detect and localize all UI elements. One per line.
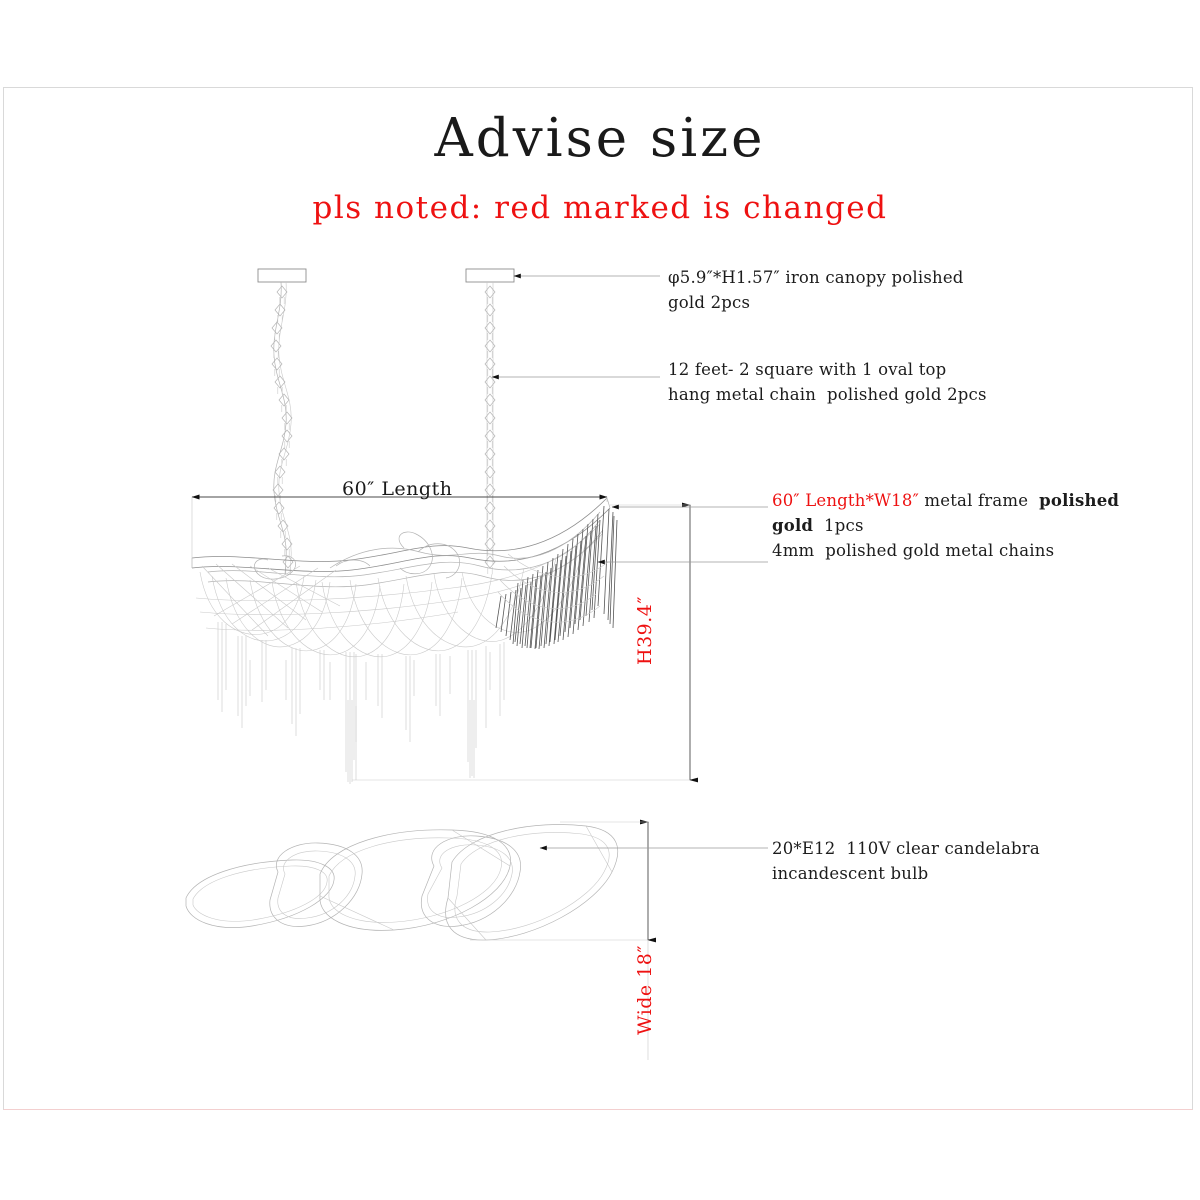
annotation-hang-chain-line1: 12 feet- 2 square with 1 oval top bbox=[668, 360, 946, 379]
annotation-hang-chain: 12 feet- 2 square with 1 oval top hang m… bbox=[668, 357, 987, 407]
annotation-bulb-line2: incandescent bulb bbox=[772, 864, 928, 883]
hang-chain-right bbox=[485, 282, 495, 574]
annotation-bulb: 20*E12 110V clear candelabra incandescen… bbox=[772, 836, 1040, 886]
annotation-metal-frame-bold2: gold bbox=[772, 516, 813, 535]
dimension-label-height: H39.4″ bbox=[634, 596, 656, 665]
plan-view-links bbox=[186, 825, 618, 941]
annotation-metal-chains-line1: 4mm polished gold metal chains bbox=[772, 541, 1054, 560]
dimension-length bbox=[192, 497, 607, 560]
annotation-metal-frame-tail: 1pcs bbox=[813, 516, 863, 535]
dimension-label-width: Wide 18″ bbox=[634, 945, 656, 1035]
annotation-metal-chains: 4mm polished gold metal chains bbox=[772, 538, 1054, 563]
technical-drawing-artwork bbox=[0, 0, 1200, 1200]
annotation-metal-frame-mid: metal frame bbox=[919, 491, 1039, 510]
dimension-label-length: 60″ Length bbox=[342, 478, 452, 500]
hang-chain-left bbox=[271, 282, 293, 575]
annotation-hang-chain-line2: hang metal chain polished gold 2pcs bbox=[668, 385, 987, 404]
hanging-chain-strands bbox=[218, 622, 504, 784]
canopy-left bbox=[258, 269, 306, 282]
annotation-metal-frame-red: 60″ Length*W18″ bbox=[772, 491, 919, 510]
metal-chain-fringe bbox=[496, 506, 617, 649]
drawing-sheet: Advise size pls noted: red marked is cha… bbox=[0, 0, 1200, 1200]
annotation-canopy: φ5.9″*H1.57″ iron canopy polished gold 2… bbox=[668, 265, 964, 315]
canopy-right bbox=[466, 269, 514, 282]
annotation-canopy-line2: gold 2pcs bbox=[668, 293, 750, 312]
annotation-metal-frame: 60″ Length*W18″ metal frame polished gol… bbox=[772, 488, 1119, 538]
annotation-bulb-line1: 20*E12 110V clear candelabra bbox=[772, 839, 1040, 858]
annotation-metal-frame-bold1: polished bbox=[1039, 491, 1119, 510]
annotation-canopy-line1: φ5.9″*H1.57″ iron canopy polished bbox=[668, 268, 964, 287]
